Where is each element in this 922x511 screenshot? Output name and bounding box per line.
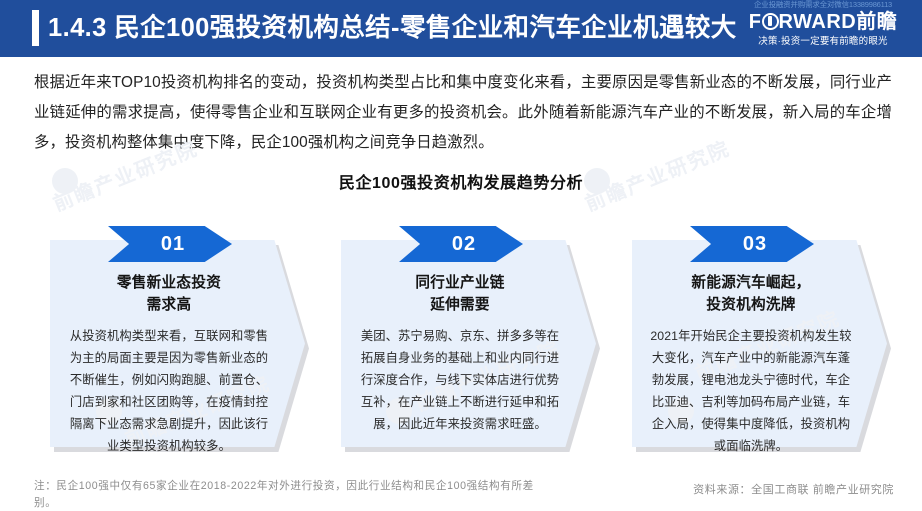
footnote: 注：民企100强中仅有65家企业在2018-2022年对外进行投资，因此行业结构…	[34, 478, 534, 511]
card-title: 同行业产业链 延伸需要	[353, 272, 567, 316]
brand-wordmark: FRWARD前瞻	[734, 11, 912, 34]
card-title-line1: 同行业产业链	[353, 272, 567, 294]
forward-o-icon	[762, 13, 779, 30]
card-title-line2: 需求高	[62, 294, 276, 316]
info-card-03: 03 新能源汽车崛起， 投资机构洗牌 2021年开始民企主要投资机构发生较大变化…	[632, 240, 887, 447]
card-description: 2021年开始民企主要投资机构发生较大变化，汽车产业中的新能源汽车蓬勃发展，锂电…	[650, 325, 852, 457]
cards-row: 01 零售新业态投资 需求高 从投资机构类型来看，互联网和零售为主的局面主要是因…	[0, 222, 922, 452]
card-title-line1: 新能源汽车崛起，	[644, 272, 858, 294]
card-description: 从投资机构类型来看，互联网和零售为主的局面主要是因为零售新业态的不断催生，例如闪…	[68, 325, 270, 457]
chart-subheading: 民企100强投资机构发展趋势分析	[0, 172, 922, 196]
source-note: 资料来源：全国工商联 前瞻产业研究院	[693, 482, 894, 499]
card-description: 美团、苏宁易购、京东、拼多多等在拓展自身业务的基础上和业内同行进行深度合作，与线…	[359, 325, 561, 435]
card-title: 新能源汽车崛起， 投资机构洗牌	[644, 272, 858, 316]
card-title-line1: 零售新业态投资	[62, 272, 276, 294]
card-title: 零售新业态投资 需求高	[62, 272, 276, 316]
brand-tagline: 决策·投资一定要有前瞻的眼光	[734, 35, 912, 48]
info-card-01: 01 零售新业态投资 需求高 从投资机构类型来看，互联网和零售为主的局面主要是因…	[50, 240, 305, 447]
brand-logo-block: 企业投融资并购需求全对微信13389986113 FRWARD前瞻 决策·投资一…	[734, 0, 912, 48]
brand-contact-watermark: 企业投融资并购需求全对微信13389986113	[734, 0, 912, 9]
intro-paragraph: 根据近年来TOP10投资机构排名的变动，投资机构类型占比和集中度变化来看，主要原…	[34, 68, 892, 158]
card-title-line2: 投资机构洗牌	[644, 294, 858, 316]
title-accent-bar	[32, 10, 39, 46]
card-title-line2: 延伸需要	[353, 294, 567, 316]
slide-root: 1.4.3 民企100强投资机构总结-零售企业和汽车企业机遇较大 企业投融资并购…	[0, 0, 922, 511]
page-title: 1.4.3 民企100强投资机构总结-零售企业和汽车企业机遇较大	[48, 9, 737, 47]
brand-logo-prefix: F	[749, 11, 762, 33]
brand-logo-suffix: RWARD前瞻	[779, 11, 898, 33]
info-card-02: 02 同行业产业链 延伸需要 美团、苏宁易购、京东、拼多多等在拓展自身业务的基础…	[341, 240, 596, 447]
slide-header: 1.4.3 民企100强投资机构总结-零售企业和汽车企业机遇较大 企业投融资并购…	[0, 0, 922, 57]
